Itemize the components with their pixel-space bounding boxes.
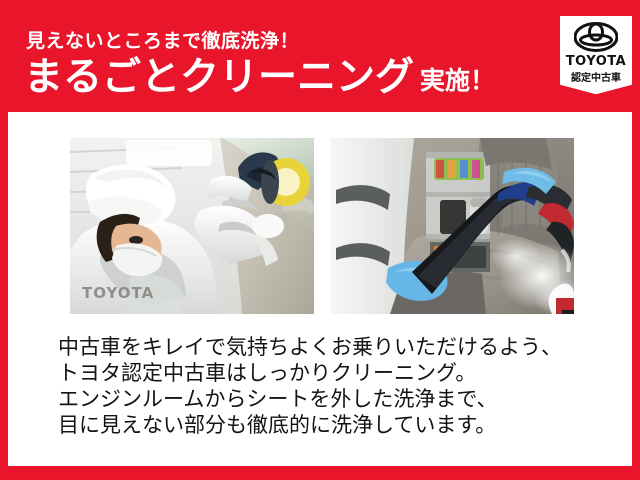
body-copy-line-1: 中古車をキレイで気持ちよくお乗りいただけるよう、 (58, 334, 618, 360)
photo-polishing: TOYOTA (70, 138, 314, 314)
headline-main-text: まるごとクリーニング (24, 57, 414, 99)
toyota-emblem-icon (574, 22, 618, 52)
banner-header: 見えないところまで徹底洗浄！ まるごとクリーニング 実施！ TOYOTA 認定中… (0, 0, 640, 112)
svg-text:TOYOTA: TOYOTA (82, 284, 154, 302)
body-copy-line-3: エンジンルームからシートを外した洗浄まで、 (58, 386, 618, 412)
photo-polishing-illustration: TOYOTA (70, 138, 314, 314)
body-copy: 中古車をキレイで気持ちよくお乗りいただけるよう、 トヨタ認定中古車はしっかりクリ… (58, 334, 618, 438)
photo-row: TOYOTA (70, 138, 574, 314)
header-headline: まるごとクリーニング 実施！ (24, 57, 495, 99)
content-panel: TOYOTA (8, 112, 632, 466)
promotional-banner: 見えないところまで徹底洗浄！ まるごとクリーニング 実施！ TOYOTA 認定中… (0, 0, 640, 480)
header-subtitle: 見えないところまで徹底洗浄！ (26, 26, 299, 53)
toyota-certified-label: 認定中古車 (560, 69, 632, 84)
toyota-certified-logo: TOYOTA 認定中古車 (560, 16, 632, 98)
photo-steam-illustration (330, 138, 574, 314)
body-copy-line-2: トヨタ認定中古車はしっかりクリーニング。 (58, 360, 618, 386)
toyota-wordmark: TOYOTA (560, 54, 632, 69)
body-copy-line-4: 目に見えない部分も徹底的に洗浄しています。 (58, 412, 618, 438)
photo-steam-cleaning (330, 138, 574, 314)
headline-suffix-text: 実施！ (420, 66, 495, 96)
